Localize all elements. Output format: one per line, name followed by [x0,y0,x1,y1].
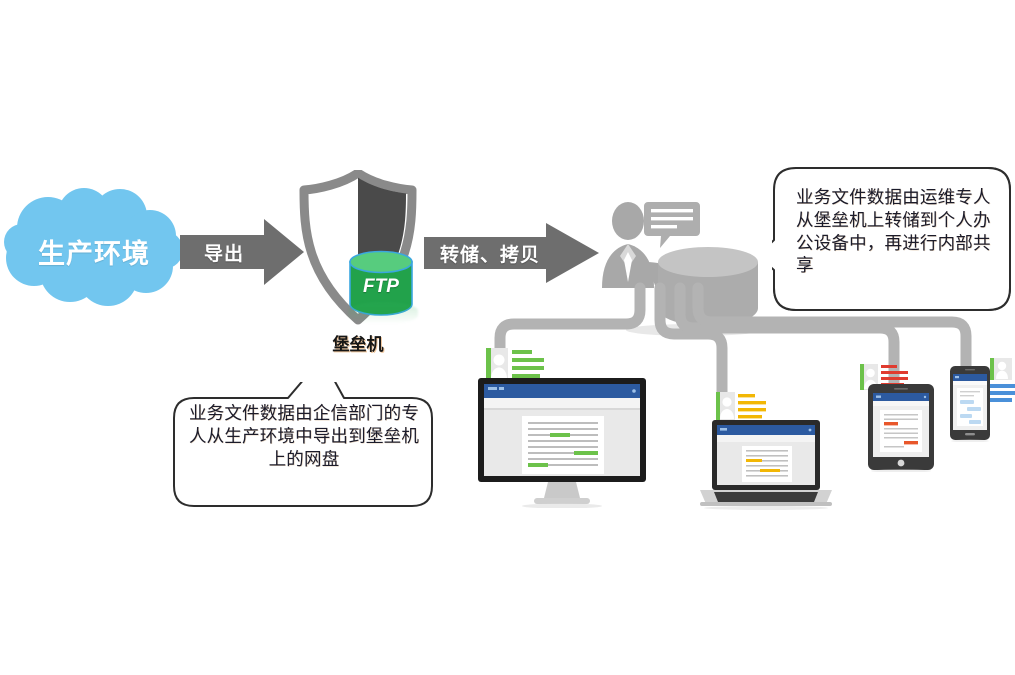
device-desktop-monitor[interactable] [476,376,648,508]
desktop-monitor-icon[interactable] [476,376,648,508]
bastion-host-shield: FTP [292,170,424,325]
ftp-reflection [348,302,418,324]
bastion-host-caption: 堡垒机 [290,330,426,355]
diagram-canvas: 生产环境 导出 FTP 堡垒机 转储、拷贝 [0,0,1015,675]
cloud-label: 生产环境 [4,232,184,271]
arrow-transfer-label: 转储、拷贝 [424,222,540,284]
speech-bubble-icon [644,202,700,248]
callout-export-to-bastion-text: 业务文件数据由企信部门的专人从生产环境中导出到堡垒机上的网盘 [188,402,420,470]
tablet-icon[interactable] [866,382,936,472]
device-tablet[interactable] [866,382,936,472]
device-laptop[interactable] [698,418,834,510]
arrow-transfer: 转储、拷贝 [424,222,599,284]
user-contact-icon [986,358,1015,402]
production-environment-cloud: 生产环境 [4,188,184,310]
arrow-export: 导出 [180,218,304,286]
callout-ops-transfer-text: 业务文件数据由运维专人从堡垒机上转储到个人办公设备中，再进行内部共享 [796,186,1002,277]
user-card-phone [986,358,1015,402]
callout-export-to-bastion: 业务文件数据由企信部门的专人从生产环境中导出到堡垒机上的网盘 [172,382,434,508]
laptop-icon[interactable] [698,418,834,510]
callout-ops-transfer: 业务文件数据由运维专人从堡垒机上转储到个人办公设备中，再进行内部共享 [772,166,1012,314]
arrow-export-label: 导出 [180,218,244,286]
ftp-label: FTP [348,276,414,298]
